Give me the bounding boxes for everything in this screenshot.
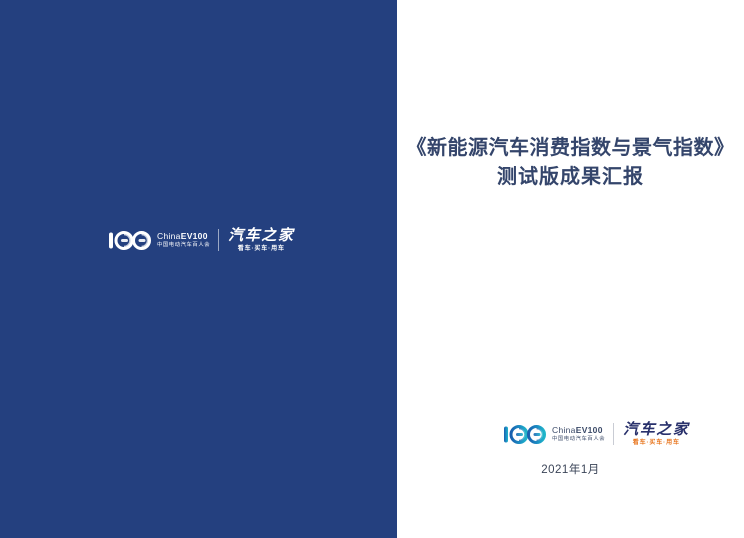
- autohome-wordmark-white: 汽车之家: [623, 422, 689, 437]
- ev100-latin-navy: ChinaEV100: [157, 232, 209, 241]
- ev100-latin-light-white: China: [552, 425, 576, 435]
- presentation-date: 2021年1月: [397, 461, 744, 477]
- title-block: 《新能源汽车消费指数与景气指数》 测试版成果汇报: [397, 134, 744, 192]
- left-navy-panel: ChinaEV100 中国电动汽车百人会 汽车之家 看车·买车·用车: [0, 0, 397, 538]
- china-ev100-logo-white: ChinaEV100 中国电动汽车百人会: [503, 424, 604, 445]
- ev100-latin-bold-white: EV100: [576, 425, 603, 435]
- right-content-panel: 《新能源汽车消费指数与景气指数》 测试版成果汇报: [397, 0, 744, 538]
- logo-divider-navy: [218, 229, 219, 251]
- logo-lockup-white: ChinaEV100 中国电动汽车百人会 汽车之家 看车·买车·用车: [503, 422, 690, 446]
- autohome-tagline-navy: 看车·买车·用车: [238, 246, 285, 252]
- logo-lockup-navy: ChinaEV100 中国电动汽车百人会 汽车之家 看车·买车·用车: [108, 228, 295, 252]
- ev100-chinese-white: 中国电动汽车百人会: [552, 437, 605, 442]
- autohome-logo-white: 汽车之家 看车·买车·用车: [623, 422, 689, 446]
- logo-divider-white: [613, 423, 614, 445]
- autohome-tagline-white: 看车·买车·用车: [633, 440, 680, 446]
- china-ev100-logo-navy: ChinaEV100 中国电动汽车百人会: [108, 230, 209, 251]
- ev100-chinese-navy: 中国电动汽车百人会: [157, 243, 210, 248]
- cover-slide: ChinaEV100 中国电动汽车百人会 汽车之家 看车·买车·用车 《新能源汽…: [0, 0, 744, 538]
- ev100-latin-bold-navy: EV100: [181, 231, 208, 241]
- ev100-wordmark-navy: ChinaEV100 中国电动汽车百人会: [157, 232, 209, 248]
- ev100-mark-icon: [503, 424, 547, 445]
- ev100-mark-icon: [108, 230, 152, 251]
- title-line-2: 测试版成果汇报: [397, 163, 744, 192]
- autohome-wordmark-navy: 汽车之家: [228, 228, 294, 243]
- ev100-latin-light-navy: China: [157, 231, 181, 241]
- ev100-wordmark-white: ChinaEV100 中国电动汽车百人会: [552, 426, 604, 442]
- ev100-latin-white: ChinaEV100: [552, 426, 604, 435]
- title-line-1: 《新能源汽车消费指数与景气指数》: [397, 134, 744, 163]
- autohome-logo-navy: 汽车之家 看车·买车·用车: [228, 228, 294, 252]
